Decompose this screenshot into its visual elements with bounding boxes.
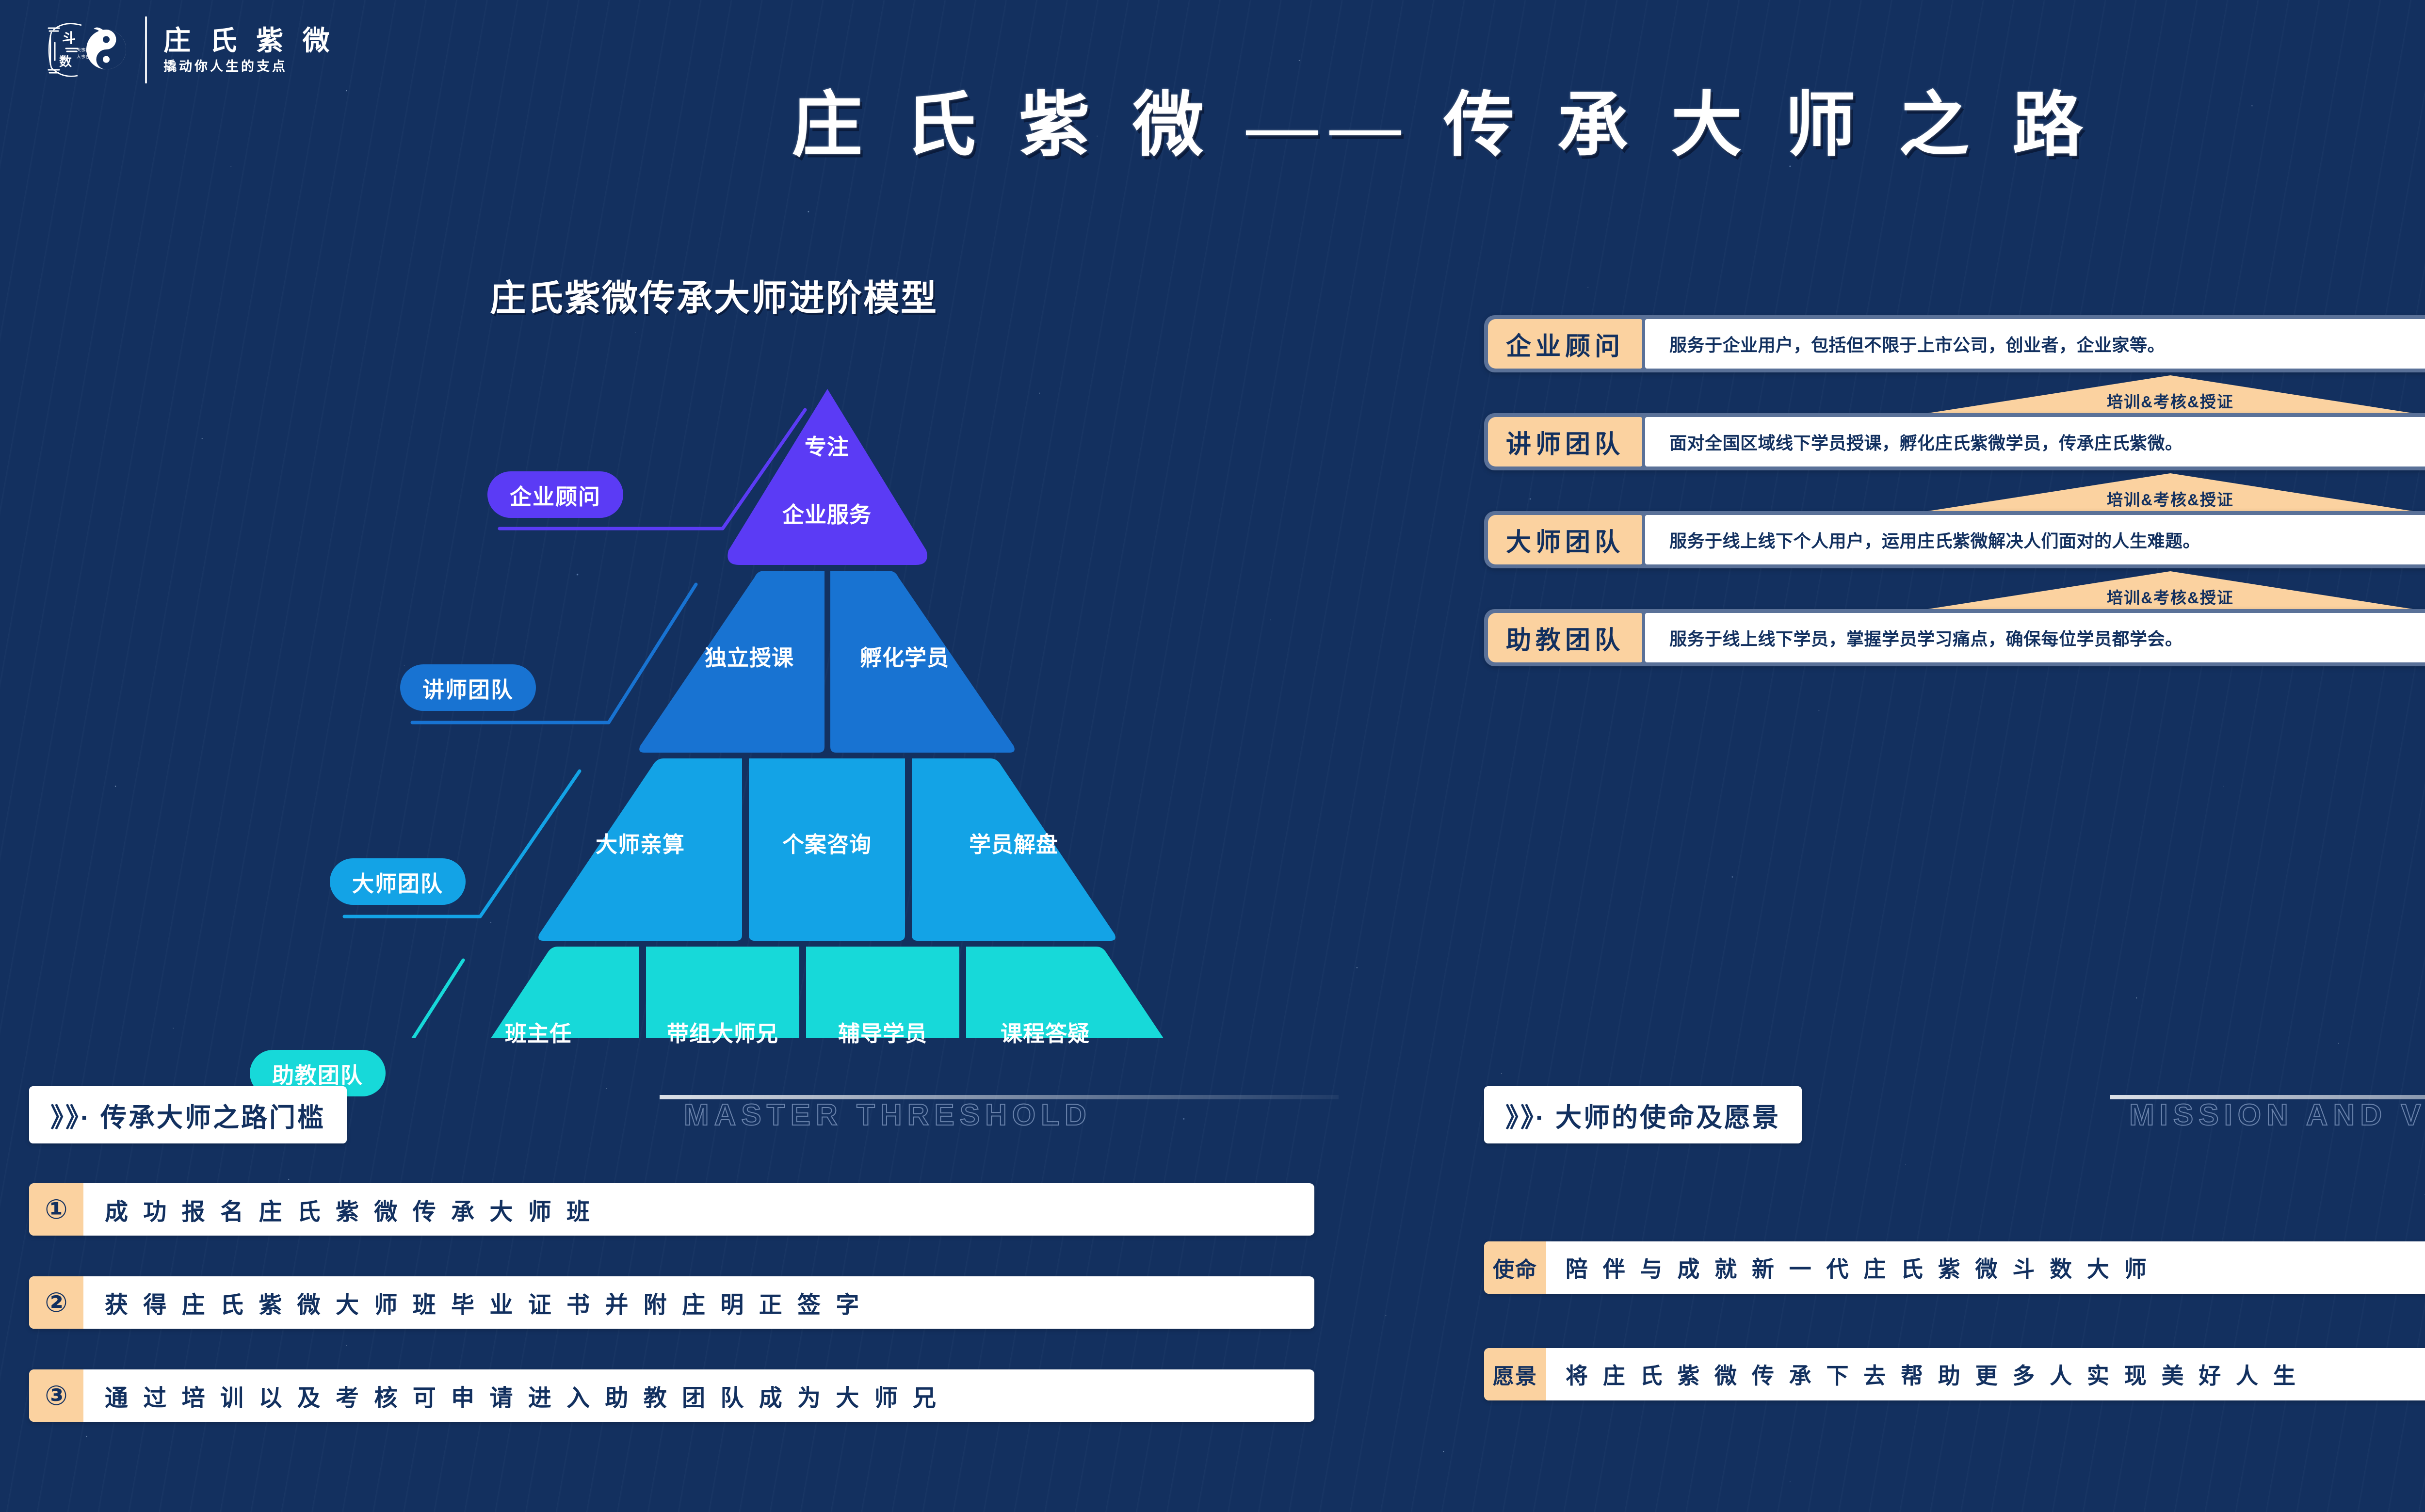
pyramid-cell-tier4-3	[806, 947, 959, 1038]
role-card-row-2: 大师团队 服务于线上线下个人用户，运用庄氏紫微解决人们面对的人生难题。	[1484, 511, 2425, 568]
mission-header-rule	[2110, 1095, 2425, 1099]
role-progress-arrow-0: 培训&考核&授证	[1484, 372, 2425, 413]
triangle-arrow-icon: 培训&考核&授证	[1928, 375, 2413, 413]
role-card[interactable]: 讲师团队 面对全国区域线下学员授课，孵化庄氏紫微学员，传承庄氏紫微。	[1484, 413, 2425, 470]
role-cards-panel: 企业顾问 服务于企业用户，包括但不限于上市公司，创业者，企业家等。 培训&考核&…	[1484, 315, 2425, 666]
svg-text:斗: 斗	[62, 31, 76, 46]
threshold-item-number: ③	[29, 1369, 83, 1422]
threshold-header-rule	[660, 1095, 1339, 1099]
threshold-item-number: ①	[29, 1183, 83, 1236]
role-progress-arrow-label: 培训&考核&授证	[2107, 585, 2234, 608]
svg-text:数: 数	[59, 55, 72, 69]
pyramid-cell-tier2-right	[830, 571, 1015, 753]
role-card-description: 服务于线上线下学员，掌握学员学习痛点，确保每位学员都学会。	[1645, 613, 2425, 662]
role-progress-arrow-1: 培训&考核&授证	[1484, 470, 2425, 511]
role-card[interactable]: 大师团队 服务于线上线下个人用户，运用庄氏紫微解决人们面对的人生难题。	[1484, 511, 2425, 568]
vision-tag: 愿景	[1484, 1348, 1546, 1400]
threshold-item-text: 成 功 报 名 庄 氏 紫 微 传 承 大 师 班	[83, 1183, 1314, 1236]
mission-tag: 使命	[1484, 1241, 1546, 1294]
role-card-description: 面对全国区域线下学员授课，孵化庄氏紫微学员，传承庄氏紫微。	[1645, 417, 2425, 466]
mission-row[interactable]: 使命 陪 伴 与 成 就 新 一 代 庄 氏 紫 微 斗 数 大 师	[1484, 1241, 2425, 1294]
pyramid-cell-tier3-mid	[749, 758, 905, 941]
vision-row[interactable]: 愿景 将 庄 氏 紫 微 传 承 下 去 帮 助 更 多 人 实 现 美 好 人…	[1484, 1348, 2425, 1400]
threshold-item-text: 获 得 庄 氏 紫 微 大 师 班 毕 业 证 书 并 附 庄 明 正 签 字	[83, 1276, 1314, 1329]
vision-text: 将 庄 氏 紫 微 传 承 下 去 帮 助 更 多 人 实 现 美 好 人 生	[1546, 1348, 2425, 1400]
mission-section-header: MISSION AND VISION 》》· 大师的使命及愿景	[1484, 1086, 2425, 1143]
role-card[interactable]: 企业顾问 服务于企业用户，包括但不限于上市公司，创业者，企业家等。	[1484, 315, 2425, 372]
pyramid-tier-pill-3[interactable]: 大师团队	[330, 858, 466, 905]
role-card-tag: 讲师团队	[1488, 417, 1642, 466]
brand-name: 庄 氏 紫 微	[163, 27, 336, 54]
pyramid-cell-tier4-4	[966, 947, 1221, 1038]
role-progress-arrow-label: 培训&考核&授证	[2107, 487, 2234, 510]
triangle-arrow-icon: 培训&考核&授证	[1928, 473, 2413, 511]
triangle-arrow-icon: 培训&考核&授证	[1928, 571, 2413, 609]
threshold-heading: 》》· 传承大师之路门槛	[29, 1086, 347, 1143]
threshold-item-number: ②	[29, 1276, 83, 1329]
progression-pyramid: 专注 企业服务 独立授课 孵化学员 大师亲算 个案咨询 学员解盘 班主任 带组大…	[339, 359, 1368, 1038]
role-card-row-1: 讲师团队 面对全国区域线下学员授课，孵化庄氏紫微学员，传承庄氏紫微。	[1484, 413, 2425, 470]
threshold-item-text: 通 过 培 训 以 及 考 核 可 申 请 进 入 助 教 团 队 成 为 大 …	[83, 1369, 1314, 1422]
pyramid-tier-pill-1[interactable]: 企业顾问	[487, 471, 623, 518]
role-card-tag: 大师团队	[1488, 515, 1642, 564]
role-card-description: 服务于线上线下个人用户，运用庄氏紫微解决人们面对的人生难题。	[1645, 515, 2425, 564]
threshold-list-item[interactable]: ② 获 得 庄 氏 紫 微 大 师 班 毕 业 证 书 并 附 庄 明 正 签 …	[29, 1276, 1314, 1329]
role-card-tag: 企业顾问	[1488, 319, 1642, 369]
pyramid-cell-tier3-right	[912, 758, 1115, 941]
mission-heading: 》》· 大师的使命及愿景	[1484, 1086, 1802, 1143]
role-card-row-0: 企业顾问 服务于企业用户，包括但不限于上市公司，创业者，企业家等。	[1484, 315, 2425, 372]
pyramid-cell-tier4-2	[646, 947, 799, 1038]
role-progress-arrow-label: 培训&考核&授证	[2107, 389, 2234, 412]
threshold-list-item[interactable]: ③ 通 过 培 训 以 及 考 核 可 申 请 进 入 助 教 团 队 成 为 …	[29, 1369, 1314, 1422]
page-header: 斗 数 天事在人 人事在天 庄 氏 紫 微 撬动你人生的支点 庄 氏 紫 微 —…	[0, 0, 2425, 228]
connector-line-tier4	[339, 960, 463, 1038]
pyramid-heading: 庄氏紫微传承大师进阶模型	[490, 269, 938, 321]
role-card-description: 服务于企业用户，包括但不限于上市公司，创业者，企业家等。	[1645, 319, 2425, 369]
role-card-row-3: 助教团队 服务于线上线下学员，掌握学员学习痛点，确保每位学员都学会。	[1484, 609, 2425, 666]
role-card[interactable]: 助教团队 服务于线上线下学员，掌握学员学习痛点，确保每位学员都学会。	[1484, 609, 2425, 666]
pyramid-cell-tier2-left	[639, 571, 824, 753]
pyramid-tier-pill-2[interactable]: 讲师团队	[400, 664, 536, 711]
role-card-tag: 助教团队	[1488, 613, 1642, 662]
role-progress-arrow-2: 培训&考核&授证	[1484, 568, 2425, 609]
threshold-list-item[interactable]: ① 成 功 报 名 庄 氏 紫 微 传 承 大 师 班	[29, 1183, 1314, 1236]
page-title: 庄 氏 紫 微 —— 传 承 大 师 之 路	[0, 68, 2425, 170]
threshold-section-header: MASTER THRESHOLD 》》· 传承大师之路门槛	[29, 1086, 1358, 1143]
mission-text: 陪 伴 与 成 就 新 一 代 庄 氏 紫 微 斗 数 大 师	[1546, 1241, 2425, 1294]
